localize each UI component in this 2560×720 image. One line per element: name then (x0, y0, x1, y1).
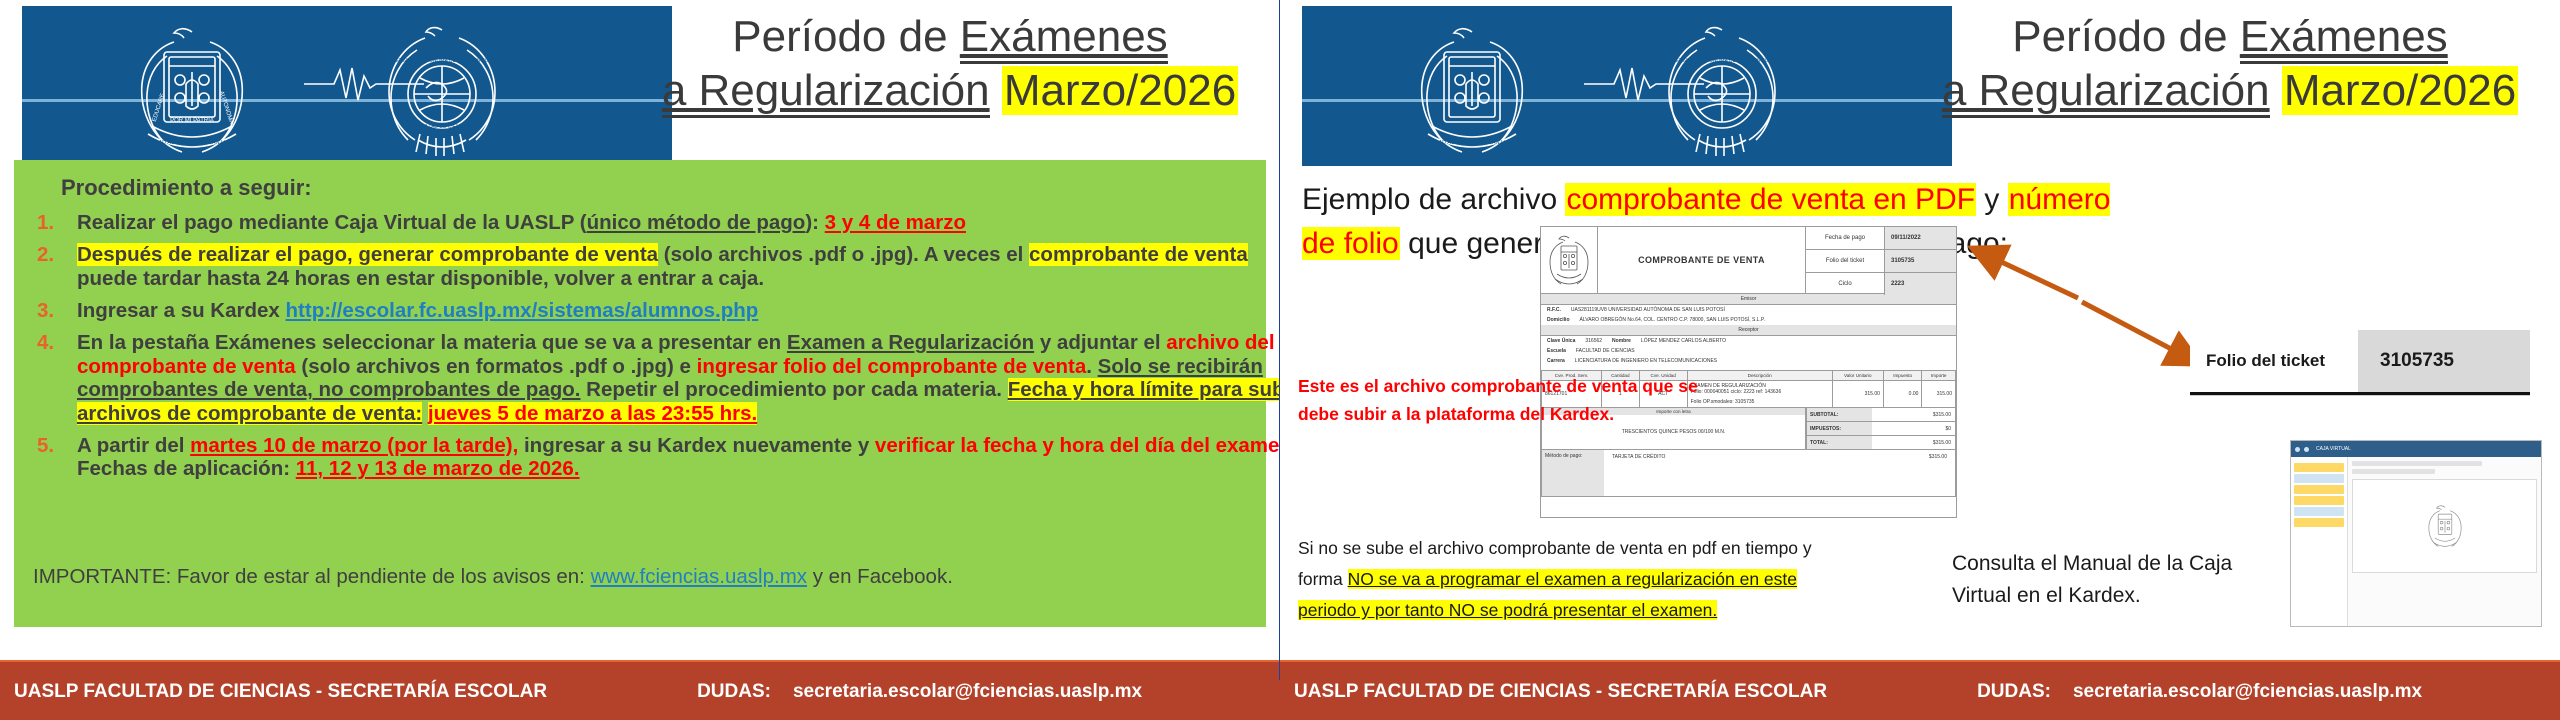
receipt-header: COMPROBANTE DE VENTA Fecha de pago 09/11… (1541, 227, 1956, 294)
sidebar-item (2294, 496, 2344, 505)
svg-text:UNIVERSIDAD AUTÓNOMA DE SAN LU: UNIVERSIDAD AUTÓNOMA DE SAN LUIS POTOSÍ (384, 57, 501, 64)
window-dot-icon (2304, 447, 2309, 452)
step-fragment-deadline: jueves 5 de marzo a las 23:55 hrs. (428, 402, 757, 425)
step-fragment: (solo archivos en formatos .pdf o .jpg) … (296, 355, 697, 378)
step-text: A partir del martes 10 de marzo (por la … (77, 434, 1280, 480)
field-key: Carrera (1547, 358, 1565, 364)
heartbeat-waveform-icon (304, 66, 424, 102)
pay-method: TARJETA DE CRÉDITO (1612, 454, 1665, 460)
uaslp-crest-icon: SIEMPRE UNIVERSIDAD AUTONOMA DE SAN LUIS… (1392, 22, 1552, 162)
important-suffix: y en Facebook. (807, 565, 953, 588)
table-row: Fecha de pago 09/11/2022 (1806, 227, 1956, 250)
cell-valor: 315.00 (1832, 381, 1883, 408)
col-header: Valor Unitario (1832, 371, 1883, 381)
step-number: 4. (37, 331, 69, 354)
browser-titlebar: CAJA VIRTUAL (2291, 441, 2541, 457)
step-text: Después de realizar el pago, generar com… (77, 243, 1248, 289)
manual-note: Consulta el Manual de la Caja Virtual en… (1952, 548, 2242, 611)
receipt-receptor-clave: Clave Única316562NombreLÓPEZ MENDEZ CARL… (1541, 336, 1956, 346)
browser-body (2291, 457, 2541, 626)
step-fragment: Repetir el procedimiento por cada materi… (580, 378, 1007, 401)
step-text: Ingresar a su Kardex http://escolar.fc.u… (77, 299, 758, 322)
svg-text:SIEMPRE: SIEMPRE (176, 59, 208, 66)
table-row: TOTAL:$315.00 (1806, 436, 1956, 450)
receipt-emisor-rfc: R.F.C.UAS281119UV8 UNIVERSIDAD AUTÓNOMA … (1541, 305, 1956, 315)
step-number: 2. (37, 243, 69, 266)
svg-text:POR MI PATRIA: POR MI PATRIA (170, 118, 214, 124)
step-text: En la pestaña Exámenes seleccionar la ma… (77, 331, 1280, 424)
window-title: CAJA VIRTUAL (2316, 446, 2351, 452)
receipt-emisor-caption: Emisor (1541, 294, 1956, 305)
content-area (2348, 457, 2541, 626)
step-fragment: Realizar el pago mediante Caja Virtual d… (77, 211, 587, 234)
step-fragment-hl: Después de realizar el pago, generar (77, 243, 439, 266)
footer-org: UASLP FACULTAD DE CIENCIAS - SECRETARÍA … (14, 681, 547, 703)
step-fragment-hl: comprobante de venta (1029, 243, 1248, 266)
step-number: 3. (37, 299, 69, 322)
intro-fragment: Ejemplo de archivo (1302, 183, 1565, 216)
field-value: LÓPEZ MENDEZ CARLOS ALBERTO (1641, 338, 1726, 344)
step-fragment: ingresar a su Kardex nuevamente y (518, 434, 875, 457)
receipt-meta: Fecha de pago 09/11/2022 Folio del ticke… (1806, 227, 1956, 293)
list-item: 2. Después de realizar el pago, generar … (77, 243, 1280, 290)
total-value: $315.00 (1872, 408, 1955, 421)
kardex-link[interactable]: http://escolar.fc.uaslp.mx/sistemas/alum… (286, 299, 759, 322)
uaslp-crest-icon: SIEMPRE EDUCARE AUTONOMA UNIVERSIDAD AUT… (112, 22, 272, 162)
title-line2-underlined: a Regularización (1942, 66, 2270, 118)
warning-fragment-hl: NO se va a programar el examen a regular… (1298, 569, 1797, 620)
field-value: 316562 (1585, 338, 1602, 344)
svg-text:UNIVERSIDAD AUTÓNOMA DE SAN LU: UNIVERSIDAD AUTÓNOMA DE SAN LUIS POTOSÍ (1664, 57, 1781, 64)
receipt-receptor-carrera: CarreraLICENCIATURA DE INGENIERO EN TELE… (1541, 356, 1956, 366)
title-line1-underlined: Exámenes (2240, 12, 2448, 64)
sidebar-item (2294, 507, 2344, 516)
pointer-arrow-icon (1960, 228, 2220, 378)
list-item: 1. Realizar el pago mediante Caja Virtua… (77, 211, 1280, 234)
footer-email: secretaria.escolar@fciencias.uaslp.mx (2073, 681, 2422, 703)
page-title: Período de Exámenes a Regularización Mar… (1920, 10, 2540, 117)
step-fragment-hl: comprobante de venta (439, 243, 658, 266)
meta-value: 09/11/2022 (1885, 227, 1956, 249)
step-fragment: Ingresar a su Kardex (77, 299, 286, 322)
step-fragment: (solo archivos .pdf o .jpg). A veces el (658, 243, 1029, 266)
field-key: R.F.C. (1547, 307, 1561, 313)
step-fragment: A partir del (77, 434, 190, 457)
pay-amount: $315.00 (1929, 454, 1947, 460)
intro-fragment-hl: comprobante de venta en PDF (1565, 183, 1976, 216)
upload-instruction-note: Este es el archivo comprobante de venta … (1298, 372, 1718, 429)
step-number: 5. (37, 434, 69, 457)
footer-email: secretaria.escolar@fciencias.uaslp.mx (793, 681, 1142, 703)
svg-text:UNIVERSIDAD AUTONOMA DE SAN LU: UNIVERSIDAD AUTONOMA DE SAN LUIS POTOSI (129, 140, 255, 146)
field-value: FACULTAD DE CIENCIAS (1576, 348, 1635, 354)
total-key: SUBTOTAL: (1807, 408, 1872, 421)
total-key: IMPUESTOS: (1807, 422, 1872, 435)
cell-impuesto: 0.00 (1883, 381, 1921, 408)
step-fragment: ): (805, 211, 824, 234)
receipt-doc-title: COMPROBANTE DE VENTA (1598, 227, 1806, 293)
step-fragment-date: martes 10 de marzo (por la tarde), (190, 434, 518, 457)
footer-org: UASLP FACULTAD DE CIENCIAS - SECRETARÍA … (1294, 681, 1827, 703)
meta-key: Folio del ticket (1806, 250, 1885, 272)
footer-dudas-label: DUDAS: (697, 681, 771, 703)
field-value: UAS281119UV8 UNIVERSIDAD AUTÓNOMA DE SAN… (1571, 307, 1725, 313)
sidebar-item (2294, 485, 2344, 494)
receipt-receptor-escuela: EscuelaFACULTAD DE CIENCIAS (1541, 346, 1956, 356)
sidebar-item (2294, 518, 2344, 527)
list-item: 3. Ingresar a su Kardex http://escolar.f… (77, 299, 1280, 322)
step-text: Realizar el pago mediante Caja Virtual d… (77, 211, 966, 234)
sidebar-item (2294, 463, 2344, 472)
footer-dudas-label: DUDAS: (1977, 681, 2051, 703)
step-fragment-red: verificar la fecha y hora del día del ex… (875, 434, 1280, 457)
slide-pair: SIEMPRE EDUCARE AUTONOMA UNIVERSIDAD AUT… (0, 0, 2560, 720)
header-banner: SIEMPRE EDUCARE AUTONOMA UNIVERSIDAD AUT… (22, 6, 672, 166)
footer-bar-right: UASLP FACULTAD DE CIENCIAS - SECRETARÍA … (1280, 660, 2560, 720)
fciencias-website-link[interactable]: www.fciencias.uaslp.mx (591, 565, 807, 588)
folio-callout: Folio del ticket 3105735 (2190, 330, 2530, 395)
step-number: 1. (37, 211, 69, 234)
title-line2-underlined: a Regularización (662, 66, 990, 118)
important-prefix: IMPORTANTE: Favor de estar al pendiente … (33, 565, 591, 588)
receipt-crest-icon (1541, 227, 1598, 293)
sidebar (2291, 457, 2348, 626)
list-item: 5. A partir del martes 10 de marzo (por … (77, 434, 1280, 481)
placeholder-line (2352, 461, 2482, 466)
caja-virtual-screenshot: CAJA VIRTUAL (2290, 440, 2542, 627)
step-fragment-underline: único método de pago (587, 211, 806, 234)
table-row: Folio del ticket 3105735 (1806, 250, 1956, 273)
intro-fragment: y (1976, 183, 2008, 216)
meta-value: 3105735 (1885, 250, 1956, 272)
field-key: Nombre (1612, 338, 1631, 344)
procedure-panel: Procedimiento a seguir: 1. Realizar el p… (14, 160, 1266, 627)
title-line1-plain: Período de (732, 12, 960, 61)
title-line1-plain: Período de (2012, 12, 2240, 61)
folio-label: Folio del ticket (2190, 351, 2358, 371)
meta-value: 2223 (1885, 273, 1956, 295)
field-value: ÁLVARO OBREGÓN No.64, COL. CENTRO C.P. 7… (1580, 317, 1765, 323)
table-row: Ciclo 2223 (1806, 273, 1956, 295)
slide-left: SIEMPRE EDUCARE AUTONOMA UNIVERSIDAD AUT… (0, 0, 1280, 720)
document-preview (2352, 479, 2537, 573)
svg-text:UNIVERSIDAD AUTONOMA DE SAN LU: UNIVERSIDAD AUTONOMA DE SAN LUIS POTOSI (1409, 140, 1535, 146)
col-header: Impuesto (1883, 371, 1921, 381)
step-fragment: En la pestaña Exámenes seleccionar la ma… (77, 331, 787, 354)
receipt-payment-method: Método de pago: TARJETA DE CRÉDITO $315.… (1541, 450, 1956, 497)
total-value: $0 (1872, 422, 1955, 435)
total-value: $315.00 (1872, 436, 1955, 449)
step-fragment: y adjuntar el (1034, 331, 1166, 354)
step-fragment: puede tardar hasta 24 horas en estar dis… (77, 267, 764, 290)
title-month-highlight: Marzo/2026 (1002, 66, 1238, 115)
field-value: LICENCIATURA DE INGENIERO EN TELECOMUNIC… (1575, 358, 1717, 364)
pay-label: Método de pago: (1542, 450, 1604, 496)
title-month-highlight: Marzo/2026 (2282, 66, 2518, 115)
col-header: Importe (1922, 371, 1956, 381)
slide-right: SIEMPRE UNIVERSIDAD AUTONOMA DE SAN LUIS… (1280, 0, 2560, 720)
step-fragment: . (1086, 355, 1097, 378)
field-key: Escuela (1547, 348, 1566, 354)
step-fragment-red: ingresar folio del comprobante de venta (697, 355, 1087, 378)
table-row: SUBTOTAL:$315.00 (1806, 408, 1956, 422)
step-fragment-dates: 11, 12 y 13 de marzo de 2026. (296, 457, 580, 480)
meta-key: Ciclo (1806, 273, 1885, 295)
title-line1-underlined: Exámenes (960, 12, 1168, 64)
step-fragment-date: 3 y 4 de marzo (825, 211, 966, 234)
uaslp-crest-icon (2428, 503, 2462, 549)
receipt-emisor-domicilio: DomicilioÁLVARO OBREGÓN No.64, COL. CENT… (1541, 315, 1956, 325)
folio-value: 3105735 (2358, 330, 2530, 392)
step-fragment-underline: Examen a Regularización (787, 331, 1034, 354)
warning-note: Si no se sube el archivo comprobante de … (1298, 533, 1858, 626)
cell-importe: 315.00 (1922, 381, 1956, 408)
receipt-receptor-caption: Receptor (1541, 325, 1956, 336)
procedure-heading: Procedimiento a seguir: (61, 175, 312, 201)
header-banner: SIEMPRE UNIVERSIDAD AUTONOMA DE SAN LUIS… (1302, 6, 1952, 166)
window-dot-icon (2295, 447, 2300, 452)
list-item: 4. En la pestaña Exámenes seleccionar la… (77, 331, 1280, 424)
sidebar-item (2294, 474, 2344, 483)
svg-text:FACULTAD DE CIENCIAS: FACULTAD DE CIENCIAS (413, 124, 472, 130)
important-notice: IMPORTANTE: Favor de estar al pendiente … (33, 565, 1243, 589)
svg-text:SIEMPRE: SIEMPRE (1456, 59, 1488, 66)
meta-key: Fecha de pago (1806, 227, 1885, 249)
field-key: Clave Única (1547, 338, 1575, 344)
total-key: TOTAL: (1807, 436, 1872, 449)
totals-column: SUBTOTAL:$315.00 IMPUESTOS:$0 TOTAL:$315… (1806, 408, 1956, 450)
table-row: IMPUESTOS:$0 (1806, 422, 1956, 436)
footer-bar-left: UASLP FACULTAD DE CIENCIAS - SECRETARÍA … (0, 660, 1280, 720)
field-key: Domicilio (1547, 317, 1570, 323)
placeholder-line (2352, 469, 2435, 474)
page-title: Período de Exámenes a Regularización Mar… (640, 10, 1260, 117)
pay-detail: TARJETA DE CRÉDITO $315.00 (1604, 450, 1955, 496)
heartbeat-waveform-icon (1584, 66, 1704, 102)
procedure-step-list: 1. Realizar el pago mediante Caja Virtua… (33, 211, 1280, 490)
